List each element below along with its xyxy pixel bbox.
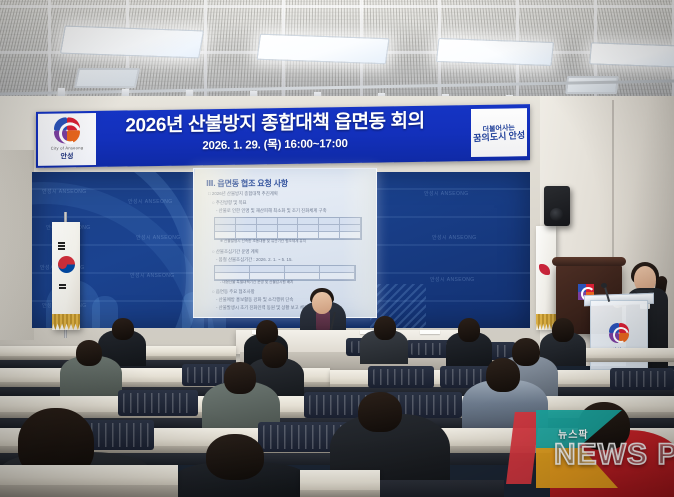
korean-national-flag bbox=[52, 222, 80, 330]
flag-fringe bbox=[52, 314, 80, 330]
backdrop-watermark-text: 안성시 ANSEONG bbox=[136, 234, 181, 241]
ceiling-light-panel bbox=[60, 26, 204, 59]
audience-person-head bbox=[76, 340, 102, 366]
audience-person-head bbox=[458, 318, 480, 342]
taeguk-symbol bbox=[58, 256, 75, 273]
lecture-chair[interactable] bbox=[118, 390, 198, 416]
desk-row bbox=[300, 470, 380, 490]
event-banner: City of Anseong 안성 2026년 산불방지 종합대책 읍면동 회… bbox=[36, 104, 530, 168]
head-table-person-head bbox=[312, 292, 332, 314]
podium-city-emblem-icon bbox=[609, 323, 629, 343]
backdrop-watermark-text: 안성시 ANSEONG bbox=[130, 272, 175, 279]
podium-microphone bbox=[601, 283, 607, 288]
backdrop-watermark-text: 안성시 ANSEONG bbox=[430, 276, 475, 283]
backdrop-watermark-text: 안성시 ANSEONG bbox=[432, 234, 477, 241]
left-wall-panel bbox=[0, 150, 34, 340]
audience-person-head bbox=[374, 316, 396, 340]
city-flag-emblem-icon bbox=[539, 264, 550, 275]
backdrop-watermark-text: 안성시 ANSEONG bbox=[42, 188, 87, 195]
banner-subtitle: 2026. 1. 29. (목) 16:00~17:00 bbox=[110, 136, 440, 155]
floor-riser bbox=[380, 480, 504, 497]
desk-row bbox=[0, 465, 178, 485]
audience-person-head bbox=[552, 318, 574, 342]
air-vent bbox=[74, 68, 140, 88]
air-vent bbox=[565, 76, 619, 94]
audience-person-head bbox=[512, 338, 540, 366]
logo-caption-en: City of Anseong bbox=[51, 145, 84, 151]
audience-person-head bbox=[486, 358, 520, 392]
desk-edge bbox=[0, 485, 178, 497]
ceiling-light-panel bbox=[256, 34, 389, 65]
audience-person-head bbox=[206, 434, 264, 480]
ceiling-light-panel bbox=[589, 42, 674, 67]
city-emblem-icon bbox=[54, 117, 80, 143]
logo-caption-kr: 안성 bbox=[61, 151, 74, 161]
audience-person-head bbox=[578, 402, 630, 450]
anseong-city-flag bbox=[536, 226, 556, 330]
audience-person-head bbox=[358, 392, 402, 432]
backdrop-watermark-text: 안성시 ANSEONG bbox=[424, 190, 469, 197]
projection-screen: Ⅲ. 읍면동 협조 요청 사항 □ 2026년 산불방지 종합대책 추진계획 ○… bbox=[193, 168, 377, 318]
slogan-plaque: 더불어사는 꿈의도시 안성 bbox=[471, 108, 527, 157]
backdrop-watermark-text: 안성시 ANSEONG bbox=[128, 198, 173, 205]
audience-person-head bbox=[112, 318, 134, 340]
conference-photo: City of Anseong 안성 2026년 산불방지 종합대책 읍면동 회… bbox=[0, 0, 674, 497]
lecture-chair[interactable] bbox=[368, 366, 434, 388]
desk-edge bbox=[300, 490, 380, 497]
anseong-city-logo: City of Anseong 안성 bbox=[38, 113, 96, 166]
table-document bbox=[420, 330, 440, 334]
screen-glare bbox=[342, 168, 377, 318]
ceiling-light-panel bbox=[436, 38, 554, 66]
lecture-chair[interactable] bbox=[610, 368, 674, 390]
audience-person-head bbox=[224, 362, 256, 394]
plaque-line-2: 꿈의도시 안성 bbox=[473, 131, 525, 143]
audience-person-head bbox=[262, 342, 287, 368]
wall-speaker bbox=[544, 186, 570, 226]
audience-person-head bbox=[256, 320, 278, 344]
banner-title: 2026년 산불방지 종합대책 읍면동 회의 bbox=[110, 111, 440, 138]
